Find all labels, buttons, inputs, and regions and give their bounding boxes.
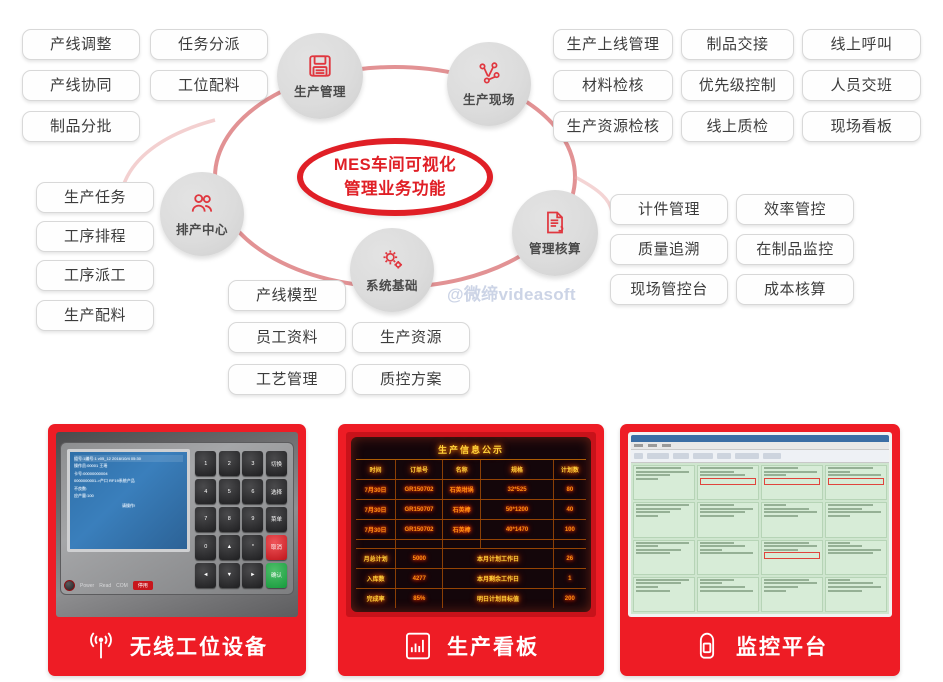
panel-monitoring-platform[interactable]: 监控平台 xyxy=(620,424,900,676)
menu-item-help[interactable] xyxy=(662,444,671,447)
cell: 石英棒 xyxy=(443,520,481,539)
summary-desc: 本月剩余工作日 xyxy=(443,569,553,588)
card-station-dosing[interactable]: 工位配料 xyxy=(150,70,268,101)
key[interactable]: 选择 xyxy=(266,479,287,504)
toolbar-button[interactable] xyxy=(634,453,643,459)
column-header: 名称 xyxy=(443,460,481,479)
column-header: 计划数 xyxy=(554,460,586,479)
key[interactable]: 0 xyxy=(195,535,216,560)
hub-label: 系统基础 xyxy=(366,275,418,294)
summary-label: 完成率 xyxy=(356,589,396,608)
hub-label: 生产管理 xyxy=(294,81,346,100)
led-board-table: 时间 订单号 名称 规格 计划数 7月30日 GR150702 石英坩埚 32*… xyxy=(356,460,586,608)
summary-row: 入库数 4277 本月剩余工作日 1 xyxy=(356,569,586,589)
card-production-task[interactable]: 生产任务 xyxy=(36,182,154,213)
card-process-mgmt[interactable]: 工艺管理 xyxy=(228,364,346,395)
card-production-resource[interactable]: 生产资源 xyxy=(352,322,470,353)
station-cell[interactable] xyxy=(761,465,823,500)
lcd-line: 不良数: xyxy=(74,485,183,492)
key[interactable]: ► xyxy=(242,563,263,588)
card-shift-handover[interactable]: 人员交班 xyxy=(802,70,921,101)
card-product-handover[interactable]: 制品交接 xyxy=(681,29,794,60)
cell: 7月30日 xyxy=(356,500,396,519)
station-cell[interactable] xyxy=(633,502,695,537)
menu-item-edit[interactable] xyxy=(648,444,657,447)
cell: GR150702 xyxy=(396,520,443,539)
summary-row: 月总计划 5000 本月计划工作日 26 xyxy=(356,549,586,569)
toolbar-field[interactable] xyxy=(693,453,713,459)
summary-desc: 明日计划目标值 xyxy=(443,589,553,608)
cell-empty xyxy=(443,540,481,548)
station-cell[interactable] xyxy=(825,502,887,537)
cell: 80 xyxy=(554,480,586,499)
station-cell[interactable] xyxy=(697,502,759,537)
cell-empty xyxy=(481,540,553,548)
cell: 7月30日 xyxy=(356,480,396,499)
card-online-inspection[interactable]: 线上质检 xyxy=(681,111,794,142)
toolbar-field[interactable] xyxy=(647,453,669,459)
lcd-line: 操作员:00001 王瑶 xyxy=(74,462,183,469)
device-monitor-icon xyxy=(692,630,722,662)
hub-scheduling-center[interactable]: 排产中心 xyxy=(160,172,244,256)
save-disk-icon xyxy=(307,53,333,79)
card-quality-plan[interactable]: 质控方案 xyxy=(352,364,470,395)
monitoring-screenshot xyxy=(628,432,892,617)
cell: 40 xyxy=(554,500,586,519)
card-site-kanban[interactable]: 现场看板 xyxy=(802,111,921,142)
card-production-dosing[interactable]: 生产配料 xyxy=(36,300,154,331)
panel-caption-text: 生产看板 xyxy=(447,631,539,661)
card-line-collaboration[interactable]: 产线协同 xyxy=(22,70,140,101)
cell-empty xyxy=(396,540,443,548)
station-cell[interactable] xyxy=(761,577,823,612)
cell: 石英坩埚 xyxy=(443,480,481,499)
column-header: 时间 xyxy=(356,460,396,479)
column-header: 规格 xyxy=(481,460,553,479)
hub-production-management[interactable]: 生产管理 xyxy=(277,33,363,119)
key[interactable]: 2 xyxy=(219,451,240,476)
cell: GR150707 xyxy=(396,500,443,519)
summary-label: 入库数 xyxy=(356,569,396,588)
key-cancel[interactable]: 取消 xyxy=(266,535,287,560)
card-task-assignment[interactable]: 任务分派 xyxy=(150,29,268,60)
device-chip-label: 停用 xyxy=(133,581,153,590)
summary-desc: 本月计划工作日 xyxy=(443,549,553,568)
lcd-line: 组号:1编号:1 v05_12 2016/10/4 05:30 xyxy=(74,455,183,462)
card-line-model[interactable]: 产线模型 xyxy=(228,280,346,311)
document-edit-icon xyxy=(542,209,568,236)
summary-label: 月总计划 xyxy=(356,549,396,568)
gears-icon xyxy=(379,247,406,273)
lcd-footer: 请操作! xyxy=(74,502,183,509)
summary-value: 5000 xyxy=(396,549,443,568)
cell-empty xyxy=(356,540,396,548)
hub-label: 管理核算 xyxy=(529,238,581,257)
hub-label: 排产中心 xyxy=(176,219,228,238)
hub-production-site[interactable]: 生产现场 xyxy=(447,42,531,126)
key[interactable]: 9 xyxy=(242,507,263,532)
card-quality-trace[interactable]: 质量追溯 xyxy=(610,234,728,265)
device-label: Power xyxy=(80,583,94,589)
hub-management-accounting[interactable]: 管理核算 xyxy=(512,190,598,276)
table-row: 7月30日 GR150702 石英棒 40*1470 100 xyxy=(356,520,586,540)
station-cell[interactable] xyxy=(697,465,759,500)
key[interactable]: 7 xyxy=(195,507,216,532)
key[interactable]: ▲ xyxy=(219,535,240,560)
center-title-line1: MES车间可视化 xyxy=(334,153,456,177)
panel-wireless-station-device[interactable]: 组号:1编号:1 v05_12 2016/10/4 05:30 操作员:0000… xyxy=(48,424,306,676)
card-production-online-mgmt[interactable]: 生产上线管理 xyxy=(553,29,673,60)
card-piecework-mgmt[interactable]: 计件管理 xyxy=(610,194,728,225)
device-lcd-screen: 组号:1编号:1 v05_12 2016/10/4 05:30 操作员:0000… xyxy=(67,449,190,552)
lcd-line: 应产量:100 xyxy=(74,492,183,499)
summary-value: 85% xyxy=(396,589,443,608)
key[interactable]: 4 xyxy=(195,479,216,504)
station-cell[interactable] xyxy=(825,540,887,575)
lcd-line: 卡号:00000000004 xyxy=(74,470,183,477)
station-cell[interactable] xyxy=(825,465,887,500)
key[interactable]: 3 xyxy=(242,451,263,476)
key-confirm[interactable]: 确认 xyxy=(266,563,287,588)
app-toolbar[interactable] xyxy=(631,450,889,463)
infographic-page: MES车间可视化 管理业务功能 @微缔videasoft 生产管理 生产现场 xyxy=(0,0,943,682)
summary-row: 完成率 85% 明日计划目标值 200 xyxy=(356,589,586,608)
panel-production-kanban[interactable]: 生产信息公示 时间 订单号 名称 规格 计划数 7月30日 xyxy=(338,424,604,676)
card-process-schedule[interactable]: 工序排程 xyxy=(36,221,154,252)
cell: 100 xyxy=(554,520,586,539)
card-wip-monitoring[interactable]: 在制品监控 xyxy=(736,234,854,265)
panel-caption-text: 无线工位设备 xyxy=(130,631,268,661)
table-row: 7月30日 GR150702 石英坩埚 32*525 80 xyxy=(356,480,586,500)
card-priority-control[interactable]: 优先级控制 xyxy=(681,70,794,101)
cell: 32*525 xyxy=(481,480,553,499)
station-cell[interactable] xyxy=(633,540,695,575)
key[interactable]: 菜单 xyxy=(266,507,287,532)
cell: GR150702 xyxy=(396,480,443,499)
device-label: Read xyxy=(99,583,111,589)
watermark: @微缔videasoft xyxy=(447,280,576,305)
card-production-adjustment[interactable]: 产线调整 xyxy=(22,29,140,60)
table-header-row: 时间 订单号 名称 规格 计划数 xyxy=(356,460,586,480)
card-online-call[interactable]: 线上呼叫 xyxy=(802,29,921,60)
card-process-dispatch[interactable]: 工序派工 xyxy=(36,260,154,291)
key[interactable]: 5 xyxy=(219,479,240,504)
device-status-bar: Power Read COM 停用 xyxy=(64,580,200,591)
cell: 50*1200 xyxy=(481,500,553,519)
card-employee-data[interactable]: 员工资料 xyxy=(228,322,346,353)
card-material-check[interactable]: 材料检核 xyxy=(553,70,673,101)
product-panels: 组号:1编号:1 v05_12 2016/10/4 05:30 操作员:0000… xyxy=(0,424,943,682)
bar-chart-icon xyxy=(403,630,433,662)
key[interactable]: 6 xyxy=(242,479,263,504)
summary-num: 1 xyxy=(554,569,586,588)
cell-empty xyxy=(554,540,586,548)
toolbar-field[interactable] xyxy=(673,453,689,459)
users-icon xyxy=(189,191,216,217)
led-board-title: 生产信息公示 xyxy=(356,441,586,460)
power-button-icon[interactable] xyxy=(64,580,75,591)
key[interactable]: ▼ xyxy=(219,563,240,588)
wifi-antenna-icon xyxy=(86,630,116,662)
network-nodes-icon xyxy=(476,61,502,87)
key[interactable]: 1 xyxy=(195,451,216,476)
summary-value: 4277 xyxy=(396,569,443,588)
panel-caption-text: 监控平台 xyxy=(736,631,828,661)
summary-num: 200 xyxy=(554,589,586,608)
table-row: 7月30日 GR150707 石英棒 50*1200 40 xyxy=(356,500,586,520)
center-title-line2: 管理业务功能 xyxy=(344,177,446,201)
panel-caption: 生产看板 xyxy=(346,617,596,675)
card-efficiency-control[interactable]: 效率管控 xyxy=(736,194,854,225)
panel-caption: 无线工位设备 xyxy=(56,617,298,675)
station-grid xyxy=(631,463,889,614)
column-header: 订单号 xyxy=(396,460,443,479)
key[interactable]: 8 xyxy=(219,507,240,532)
toolbar-field[interactable] xyxy=(735,453,759,459)
card-site-console[interactable]: 现场管控台 xyxy=(610,274,728,305)
station-cell[interactable] xyxy=(761,540,823,575)
cell: 石英棒 xyxy=(443,500,481,519)
led-board-photo: 生产信息公示 时间 订单号 名称 规格 计划数 7月30日 xyxy=(346,432,596,617)
key[interactable]: 切换 xyxy=(266,451,287,476)
device-keypad[interactable]: 1 2 3 切换 4 5 6 选择 7 8 9 菜单 0 xyxy=(195,449,287,588)
center-title-ellipse: MES车间可视化 管理业务功能 xyxy=(297,138,493,216)
lcd-line: 0000000001->产口 RF19系统产品 xyxy=(74,477,183,484)
mes-function-diagram: MES车间可视化 管理业务功能 @微缔videasoft 生产管理 生产现场 xyxy=(0,0,943,410)
device-photo: 组号:1编号:1 v05_12 2016/10/4 05:30 操作员:0000… xyxy=(56,432,298,617)
menu-item-file[interactable] xyxy=(634,444,643,447)
cell: 7月30日 xyxy=(356,520,396,539)
panel-caption: 监控平台 xyxy=(628,617,892,675)
device-label: COM xyxy=(116,583,128,589)
station-cell[interactable] xyxy=(697,540,759,575)
app-titlebar xyxy=(631,435,889,442)
toolbar-field[interactable] xyxy=(763,453,781,459)
toolbar-field[interactable] xyxy=(717,453,731,459)
card-resource-check[interactable]: 生产资源检核 xyxy=(553,111,673,142)
station-cell[interactable] xyxy=(825,577,887,612)
summary-num: 26 xyxy=(554,549,586,568)
station-cell[interactable] xyxy=(761,502,823,537)
station-cell[interactable] xyxy=(633,577,695,612)
card-product-batching[interactable]: 制品分批 xyxy=(22,111,140,142)
station-cell[interactable] xyxy=(633,465,695,500)
station-cell[interactable] xyxy=(697,577,759,612)
app-menubar[interactable] xyxy=(631,442,889,450)
hub-system-foundation[interactable]: 系统基础 xyxy=(350,228,434,312)
table-spacer-row xyxy=(356,540,586,549)
key[interactable]: * xyxy=(242,535,263,560)
cell: 40*1470 xyxy=(481,520,553,539)
card-cost-accounting[interactable]: 成本核算 xyxy=(736,274,854,305)
hub-label: 生产现场 xyxy=(463,89,515,108)
